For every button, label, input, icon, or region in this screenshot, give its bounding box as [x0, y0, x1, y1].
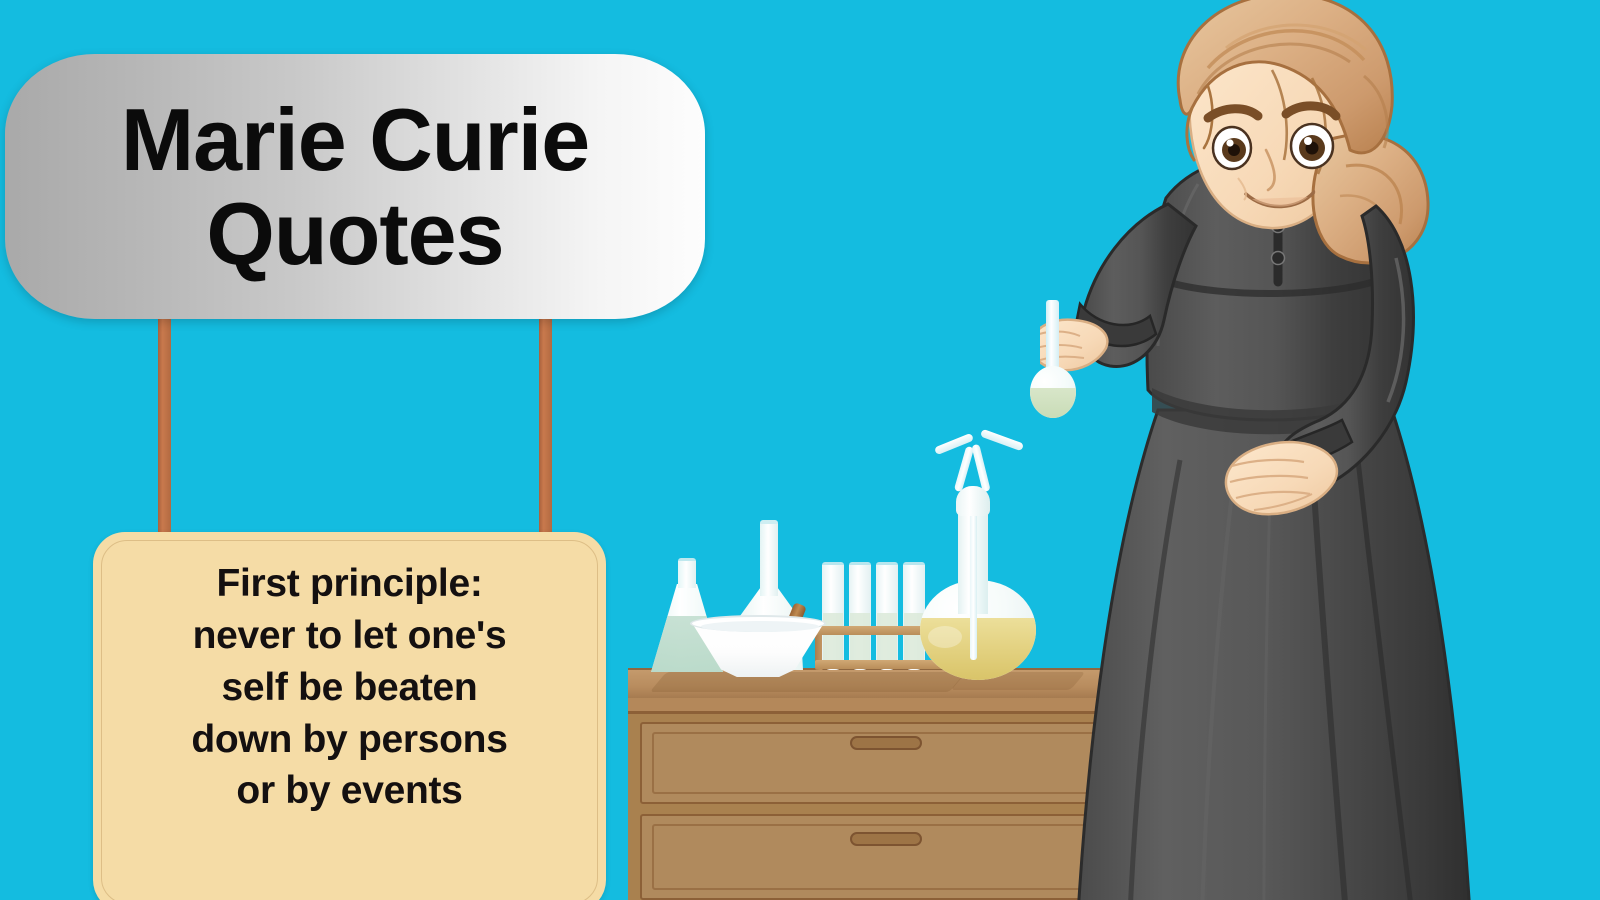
small-flask-bulb	[1030, 366, 1076, 418]
quote-line: or by events	[119, 765, 580, 817]
test-tube	[876, 562, 898, 670]
small-flask-liquid	[1030, 388, 1076, 418]
quote-line: never to let one's	[119, 610, 580, 662]
volumetric-neck	[760, 520, 778, 596]
quote-line: First principle:	[119, 558, 580, 610]
title-line-1: Marie Curie	[121, 95, 589, 185]
mortar-bowl-inner	[701, 621, 819, 632]
drawer-handle-icon	[850, 736, 922, 750]
erlenmeyer-neck	[678, 558, 696, 588]
left-sign-post	[158, 290, 171, 550]
mortar-bowl	[690, 615, 826, 677]
marie-curie-illustration	[1040, 0, 1600, 900]
poster-canvas: Marie Curie Quotes First principle: neve…	[0, 0, 1600, 900]
test-tube	[849, 562, 871, 670]
right-sign-post	[539, 290, 552, 540]
dress-button	[1272, 252, 1285, 265]
round-bottom-flask	[920, 440, 1036, 680]
drawer-handle-icon	[850, 832, 922, 846]
flask-stopper	[956, 486, 990, 516]
title-sign: Marie Curie Quotes	[5, 54, 705, 319]
title-line-2: Quotes	[206, 189, 503, 279]
flask-yellow-liquid	[920, 618, 1036, 680]
flask-inner-tube	[970, 500, 977, 660]
quote-line: down by persons	[119, 714, 580, 766]
small-handheld-flask	[1030, 300, 1076, 420]
glass-tube-icon	[971, 444, 990, 493]
quote-text: First principle: never to let one's self…	[119, 558, 580, 817]
glass-tube-icon	[980, 429, 1024, 452]
quote-board: First principle: never to let one's self…	[93, 532, 606, 900]
mortar-bowl-rim	[690, 615, 826, 632]
quote-line: self be beaten	[119, 662, 580, 714]
small-flask-neck	[1046, 300, 1059, 374]
